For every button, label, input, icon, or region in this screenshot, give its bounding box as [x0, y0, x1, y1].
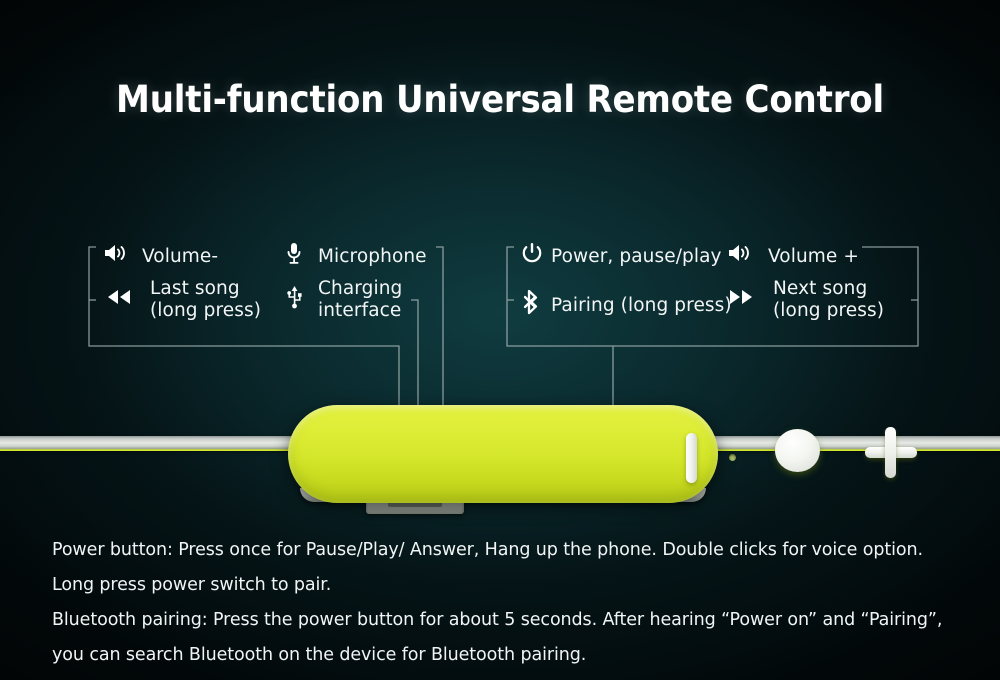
- microphone-hole: [729, 454, 736, 461]
- callout-last-song-label: Last song (long press): [150, 278, 261, 322]
- product-infographic: Multi-function Universal Remote Control: [0, 0, 1000, 680]
- callout-microphone-label: Microphone: [318, 245, 427, 268]
- speaker-wave-icon: [102, 241, 128, 271]
- callout-pairing-label: Pairing (long press): [551, 294, 732, 317]
- instruction-power-button: Power button: Press once for Pause/Play/…: [52, 533, 952, 603]
- callout-volume-down: Volume-: [102, 241, 218, 271]
- callout-charging-interface-label: Charging interface: [318, 278, 402, 322]
- callout-volume-up-label: Volume +: [768, 245, 859, 268]
- instruction-bluetooth-pairing: Bluetooth pairing: Press the power butto…: [52, 603, 952, 673]
- speaker-wave-icon: [726, 241, 752, 271]
- callout-next-song: Next song (long press): [726, 278, 884, 322]
- cable-right: [702, 436, 1000, 451]
- power-button[interactable]: [775, 429, 820, 472]
- callout-volume-up: Volume +: [726, 241, 859, 271]
- callout-volume-down-label: Volume-: [142, 245, 218, 268]
- bluetooth-earphone-remote: [0, 400, 1000, 525]
- callout-power-pause-play-label: Power, pause/play: [551, 245, 722, 268]
- fast-forward-icon: [726, 286, 756, 314]
- cable-left: [0, 436, 308, 451]
- instructions: Power button: Press once for Pause/Play/…: [52, 533, 952, 673]
- bluetooth-icon: [522, 289, 542, 321]
- callout-charging-interface: Charging interface: [286, 278, 402, 322]
- volume-down-button[interactable]: [686, 433, 697, 483]
- remote-body: [288, 405, 718, 503]
- callout-last-song: Last song (long press): [104, 278, 261, 322]
- callout-microphone: Microphone: [285, 241, 427, 271]
- callout-pairing: Pairing (long press): [522, 289, 732, 321]
- callout-power-pause-play: Power, pause/play: [520, 241, 722, 271]
- power-icon: [520, 241, 544, 271]
- usb-icon: [286, 284, 303, 316]
- microphone-icon: [285, 241, 303, 271]
- callout-next-song-label: Next song (long press): [773, 278, 884, 322]
- volume-up-button-stem[interactable]: [885, 427, 896, 478]
- rewind-icon: [104, 286, 134, 314]
- page-title: Multi-function Universal Remote Control: [40, 78, 960, 121]
